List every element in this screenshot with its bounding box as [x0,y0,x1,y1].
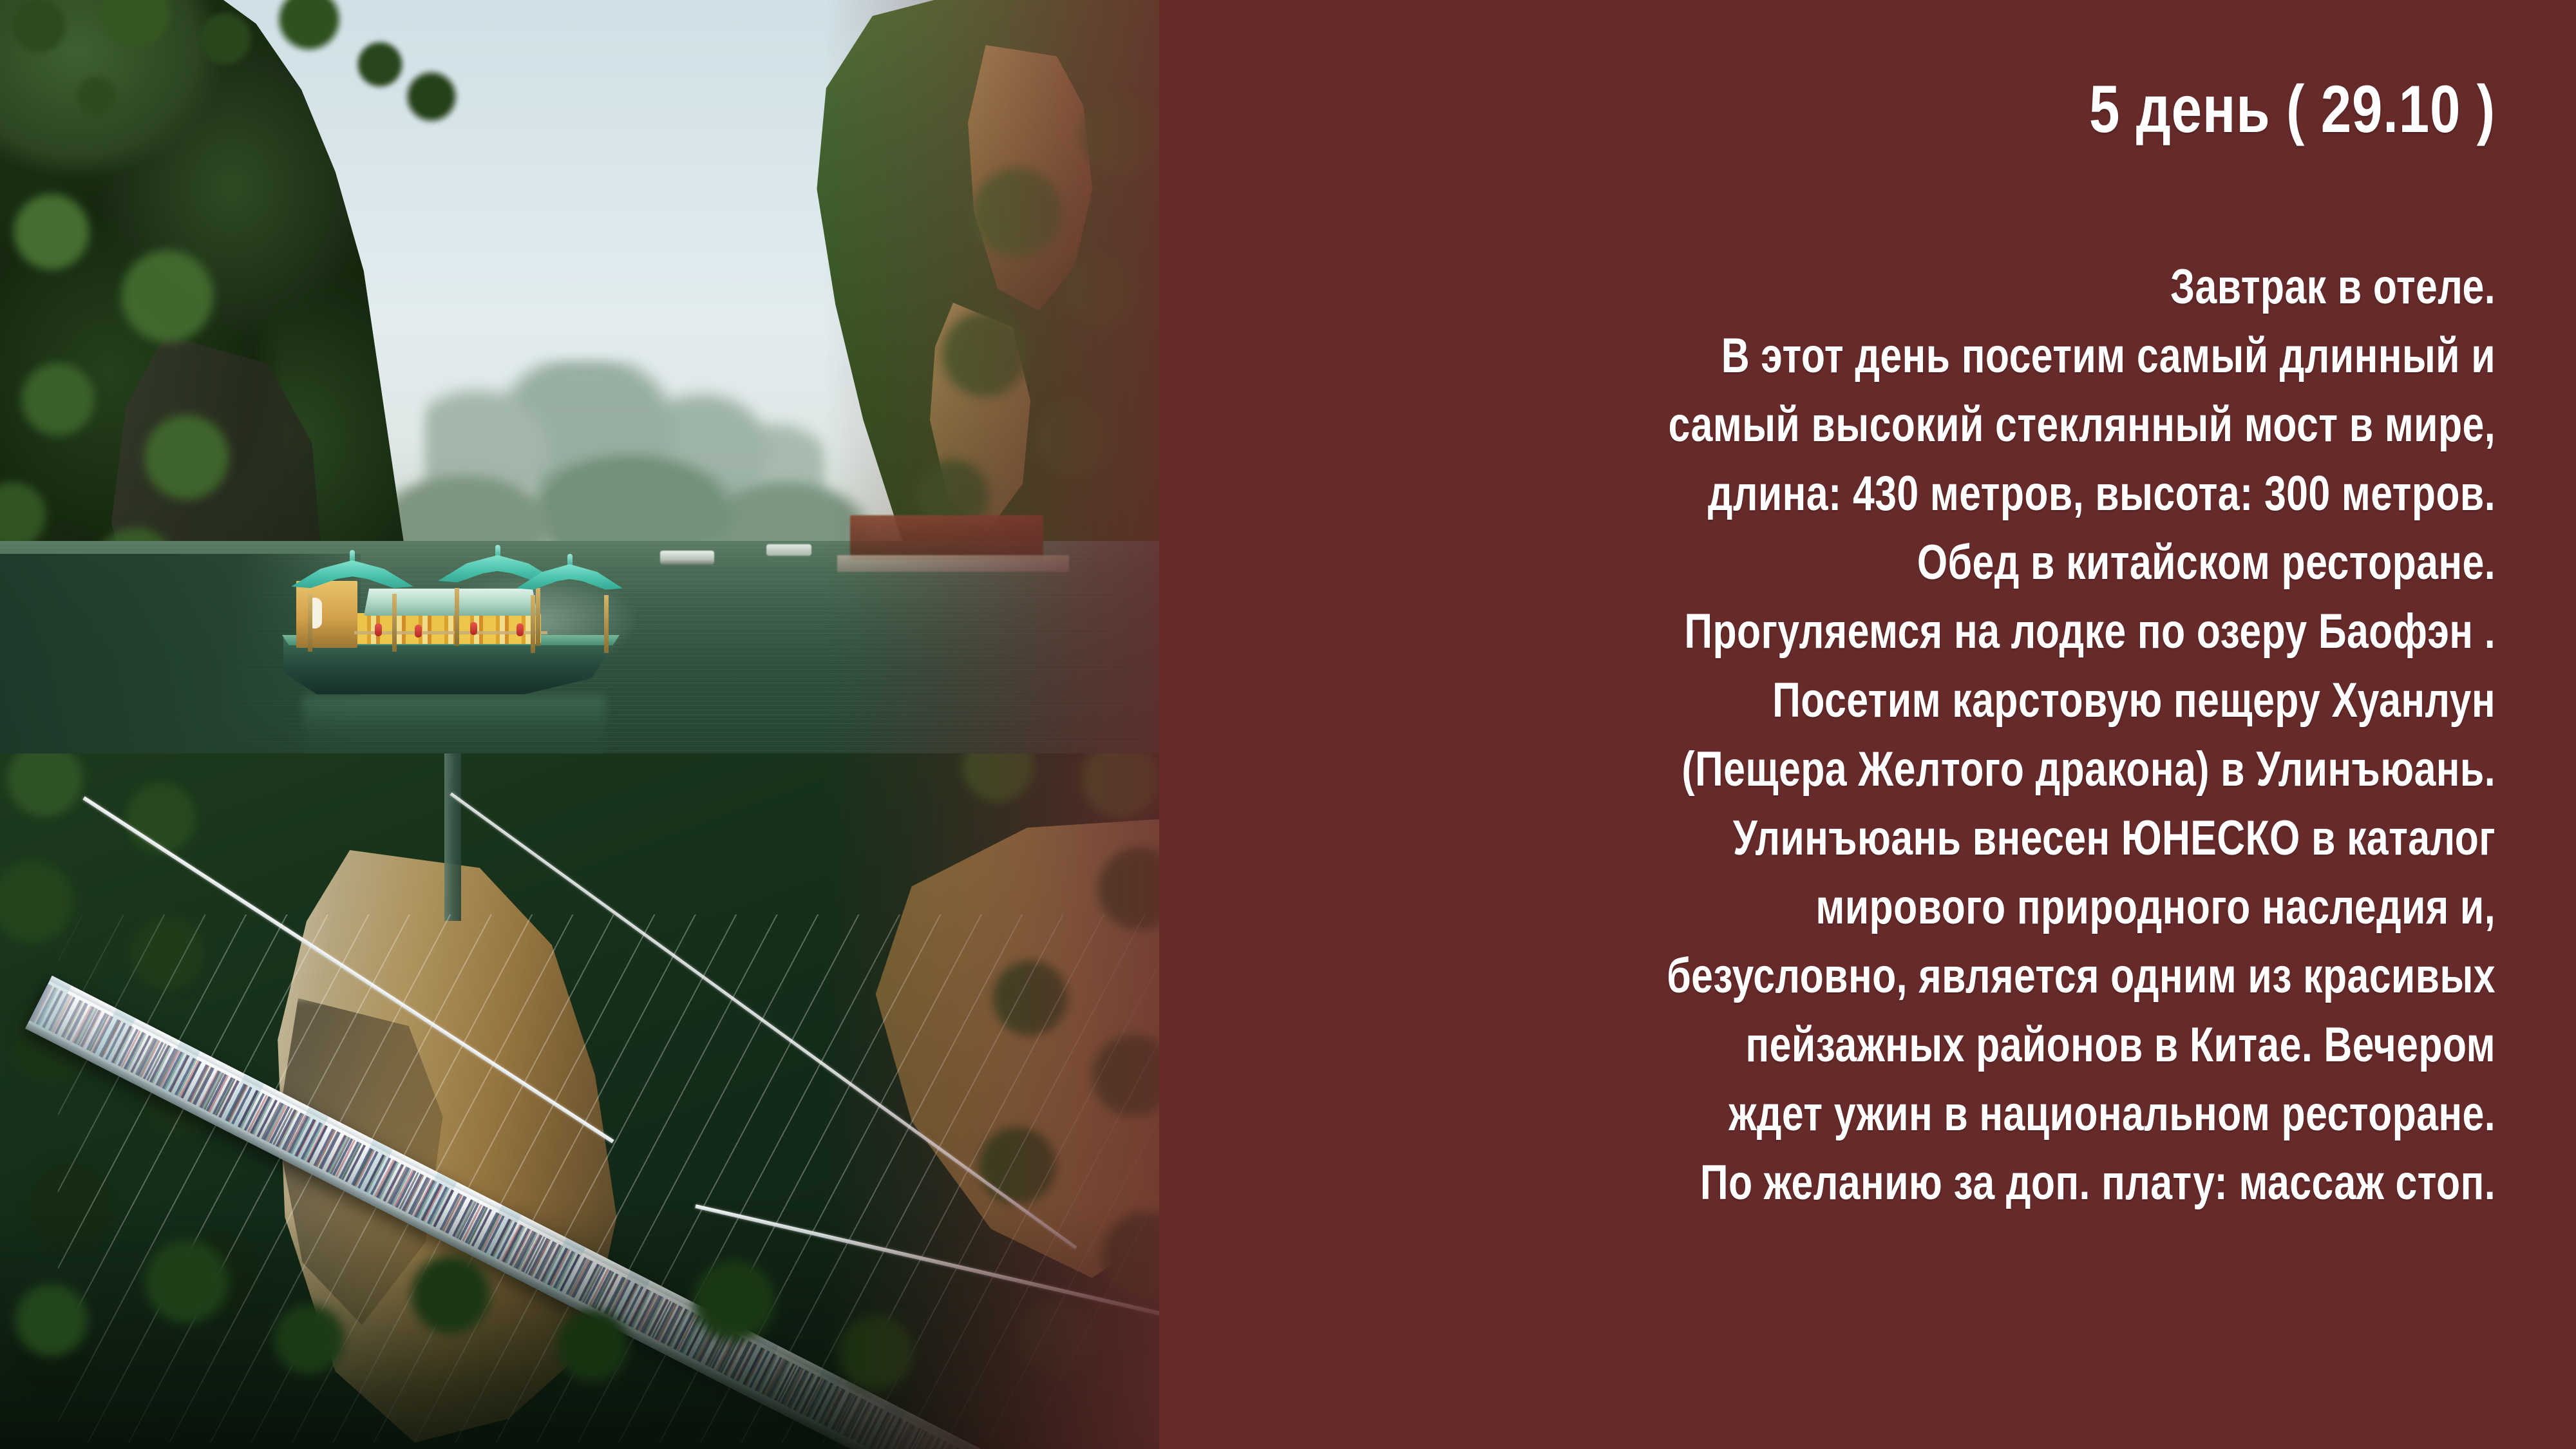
dragon-boat [277,541,631,734]
itinerary-line: Завтрак в отеле. [1478,252,2495,321]
pagoda-roof-rear [516,564,623,623]
itinerary-line: безусловно, является одним из красивых [1478,942,2495,1010]
page-title: 5 день ( 29.10 ) [1453,76,2496,143]
itinerary-line: Обед в китайском ресторане. [1478,528,2495,597]
itinerary-line: Посетим карстовую пещеру Хуанлун [1478,666,2495,735]
pagoda-post-right [392,594,397,652]
itinerary-line: самый высокий стеклянный мост в мире, [1478,390,2495,459]
itinerary-line: В этот день посетим самый длинный и [1478,321,2495,390]
pagoda-post-left [531,595,535,653]
distant-boat-1 [660,551,714,565]
baofeng-lake-photo [0,0,1159,753]
forest-foreground [0,1204,1159,1449]
boat-reflection [303,696,605,753]
itinerary-line: мирового природного наследия и, [1478,873,2495,942]
shore-dock [837,555,1069,572]
itinerary-text-block: 5 день ( 29.10 ) Завтрак в отеле. В этот… [1224,0,2495,1449]
pagoda-roof-shape [291,560,413,599]
pagoda-post-right [604,595,609,653]
itinerary-line: Улинъюань внесен ЮНЕСКО в каталог [1478,804,2495,873]
boat-lantern [415,625,422,638]
glass-bridge-photo [0,753,1159,1449]
tree-canopy [0,0,509,225]
itinerary-line: ждет ужин в национальном ресторане. [1478,1079,2495,1148]
itinerary-line: По желанию за доп. плату: массаж стоп. [1478,1148,2495,1217]
itinerary-body: Завтрак в отеле. В этот день посетим сам… [1224,252,2495,1217]
bridge-tower [444,753,461,921]
travel-itinerary-slide: 5 день ( 29.10 ) Завтрак в отеле. В этот… [0,0,2576,1449]
boat-lantern [470,622,477,635]
shore-pavilion [850,515,1043,560]
itinerary-line: (Пещера Желтого дракона) в Улинъюань. [1478,735,2495,804]
photo-column [0,0,1159,1449]
boat-lantern [516,623,524,636]
itinerary-line: Прогуляемся на лодке по озеру Баофэн . [1478,597,2495,666]
distant-boat-2 [766,544,811,556]
itinerary-line: длина: 430 метров, высота: 300 метров. [1478,459,2495,528]
itinerary-line: пейзажных районов в Китае. Вечером [1478,1010,2495,1079]
boat-lantern [375,623,382,636]
pagoda-roof-front [291,560,413,625]
pagoda-post-left [308,594,312,652]
pagoda-post-left [455,588,459,646]
